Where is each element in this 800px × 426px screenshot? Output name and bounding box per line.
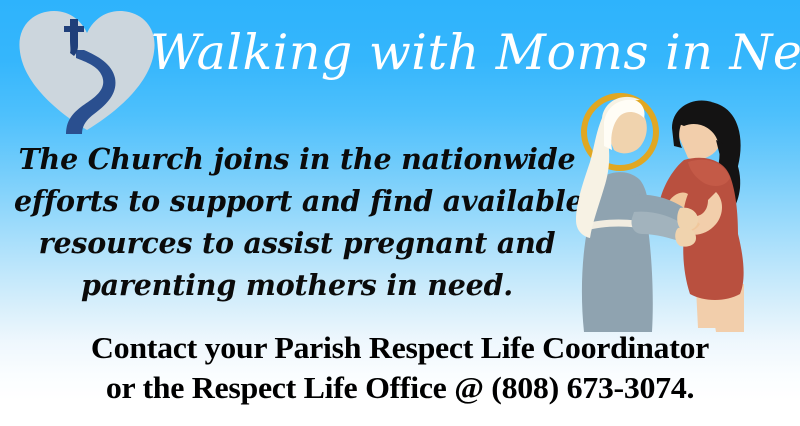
contact-line-phone: or the Respect Life Office @ (808) 673-3… — [0, 368, 800, 408]
body-paragraph: The Church joins in the nationwide effor… — [14, 138, 580, 306]
poster-title: Walking with Moms in Need — [150, 27, 790, 78]
walking-with-moms-heart-logo — [14, 6, 160, 134]
contact-block: Contact your Parish Respect Life Coordin… — [0, 328, 800, 408]
poster-canvas: Walking with Moms in Need The Church joi… — [0, 0, 800, 426]
mary-embracing-pregnant-woman-illustration — [548, 88, 800, 336]
body-line-1: The Church joins in the nationwide — [14, 138, 580, 180]
body-line-2: efforts to support and find available — [14, 180, 580, 222]
body-line-3: resources to assist pregnant and — [14, 222, 580, 264]
body-line-4: parenting mothers in need. — [14, 264, 580, 306]
